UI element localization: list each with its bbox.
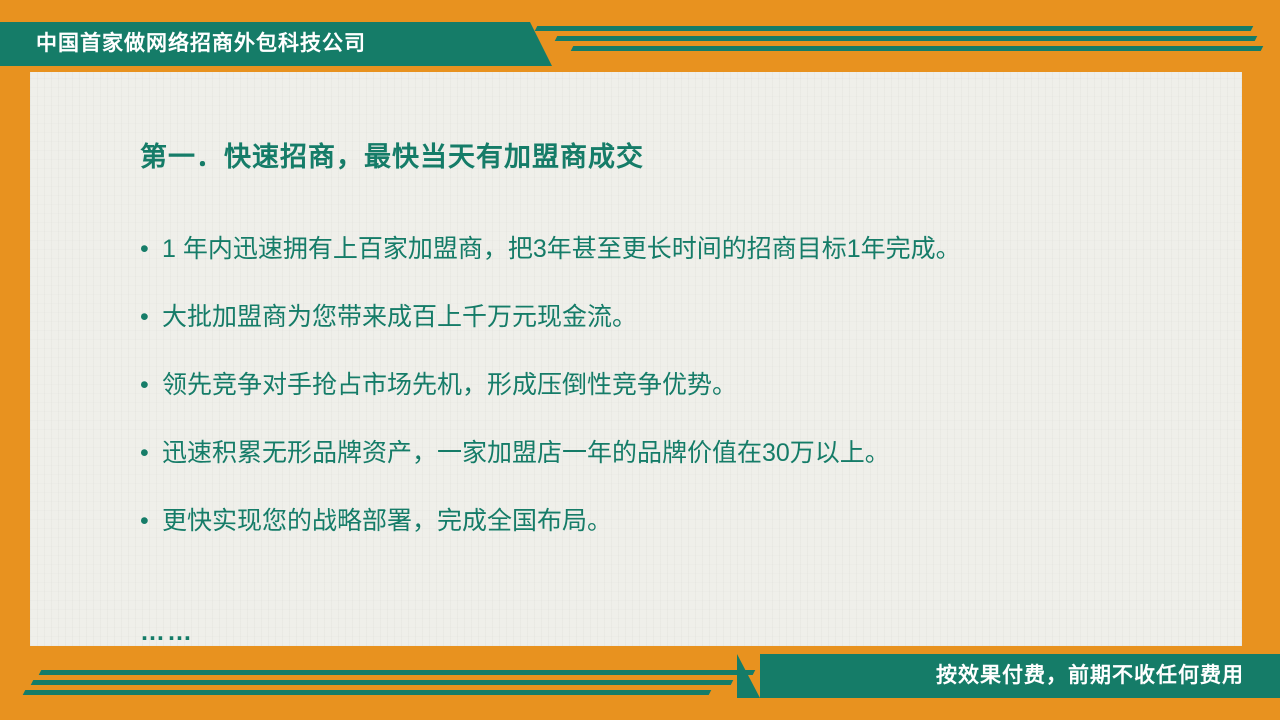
header-stripe-decoration [571, 46, 1264, 51]
bullet-dot-icon: • [140, 504, 162, 538]
bullet-dot-icon: • [140, 436, 162, 470]
list-item-label: 领先竞争对手抢占市场先机，形成压倒性竞争优势。 [162, 368, 1210, 402]
list-item: • 领先竞争对手抢占市场先机，形成压倒性竞争优势。 [140, 368, 1210, 402]
list-item: • 1 年内迅速拥有上百家加盟商，把3年甚至更长时间的招商目标1年完成。 [140, 232, 1210, 266]
header-title: 中国首家做网络招商外包科技公司 [36, 22, 366, 66]
header-stripe-decoration [555, 36, 1258, 41]
list-item-label: 迅速积累无形品牌资产，一家加盟店一年的品牌价值在30万以上。 [162, 436, 1210, 470]
slide: 中国首家做网络招商外包科技公司 第一．快速招商，最快当天有加盟商成交 • 1 年… [0, 0, 1280, 720]
header-stripe-decoration [535, 26, 1254, 31]
list-item: • 迅速积累无形品牌资产，一家加盟店一年的品牌价值在30万以上。 [140, 436, 1210, 470]
footer-band: 按效果付费，前期不收任何费用 [0, 654, 1280, 698]
bullet-list: • 1 年内迅速拥有上百家加盟商，把3年甚至更长时间的招商目标1年完成。 • 大… [140, 232, 1210, 572]
bullet-dot-icon: • [140, 368, 162, 402]
header-band: 中国首家做网络招商外包科技公司 [0, 22, 1280, 66]
list-item: • 更快实现您的战略部署，完成全国布局。 [140, 504, 1210, 538]
list-item-label: 大批加盟商为您带来成百上千万元现金流。 [162, 300, 1210, 334]
footer-tagline: 按效果付费，前期不收任何费用 [936, 654, 1244, 698]
list-item-label: 1 年内迅速拥有上百家加盟商，把3年甚至更长时间的招商目标1年完成。 [162, 232, 1210, 266]
list-item-label: 更快实现您的战略部署，完成全国布局。 [162, 504, 1210, 538]
footer-stripe-decoration [39, 670, 756, 675]
footer-stripe-decoration [23, 690, 712, 695]
page-title: 第一．快速招商，最快当天有加盟商成交 [140, 135, 644, 174]
bullet-dot-icon: • [140, 300, 162, 334]
footer-stripe-decoration [31, 680, 734, 685]
list-item: • 大批加盟商为您带来成百上千万元现金流。 [140, 300, 1210, 334]
bullet-dot-icon: • [140, 232, 162, 266]
continuation-ellipsis: …… [140, 618, 194, 647]
